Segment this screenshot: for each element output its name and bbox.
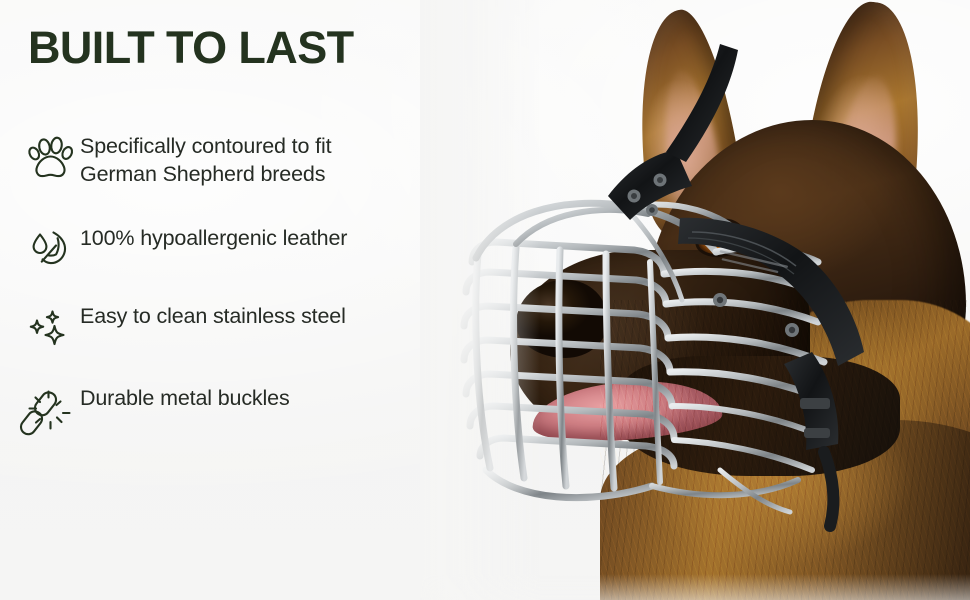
muzzle-top-leather-strap xyxy=(608,44,738,220)
paw-print-icon xyxy=(22,132,80,186)
leather-droplet-leaf-icon xyxy=(22,224,80,278)
feature-item-metal-buckles: Durable metal buckles xyxy=(22,382,452,438)
feature-text: 100% hypoallergenic leather xyxy=(80,222,347,252)
copy-column: BUILT TO LAST Specifically contoured to … xyxy=(0,0,470,600)
feature-item-easy-clean: Easy to clean stainless steel xyxy=(22,300,452,356)
feature-item-hypoallergenic-leather: 100% hypoallergenic leather xyxy=(22,222,452,278)
feature-text: Durable metal buckles xyxy=(80,382,290,412)
page-title: BUILT TO LAST xyxy=(28,22,354,74)
feature-line-1: 100% hypoallergenic leather xyxy=(80,226,347,250)
feature-list: Specifically contoured to fit German She… xyxy=(22,130,452,438)
product-feature-infographic: BUILT TO LAST Specifically contoured to … xyxy=(0,0,970,600)
feature-line-1: Specifically contoured to fit xyxy=(80,134,331,158)
chain-link-buckle-icon xyxy=(22,384,80,438)
feature-text: Specifically contoured to fit German She… xyxy=(80,130,331,188)
sparkles-icon xyxy=(22,302,80,356)
feature-line-2: German Shepherd breeds xyxy=(80,160,331,188)
feature-item-contoured-fit: Specifically contoured to fit German She… xyxy=(22,130,452,188)
feature-line-1: Durable metal buckles xyxy=(80,386,290,410)
muzzle-wireframe xyxy=(420,0,970,600)
muzzle-lower-buckle-strap xyxy=(784,352,838,526)
feature-line-1: Easy to clean stainless steel xyxy=(80,304,346,328)
feature-text: Easy to clean stainless steel xyxy=(80,300,346,330)
wire-basket-muzzle xyxy=(420,0,970,600)
product-photo-dog-with-muzzle xyxy=(420,0,970,600)
